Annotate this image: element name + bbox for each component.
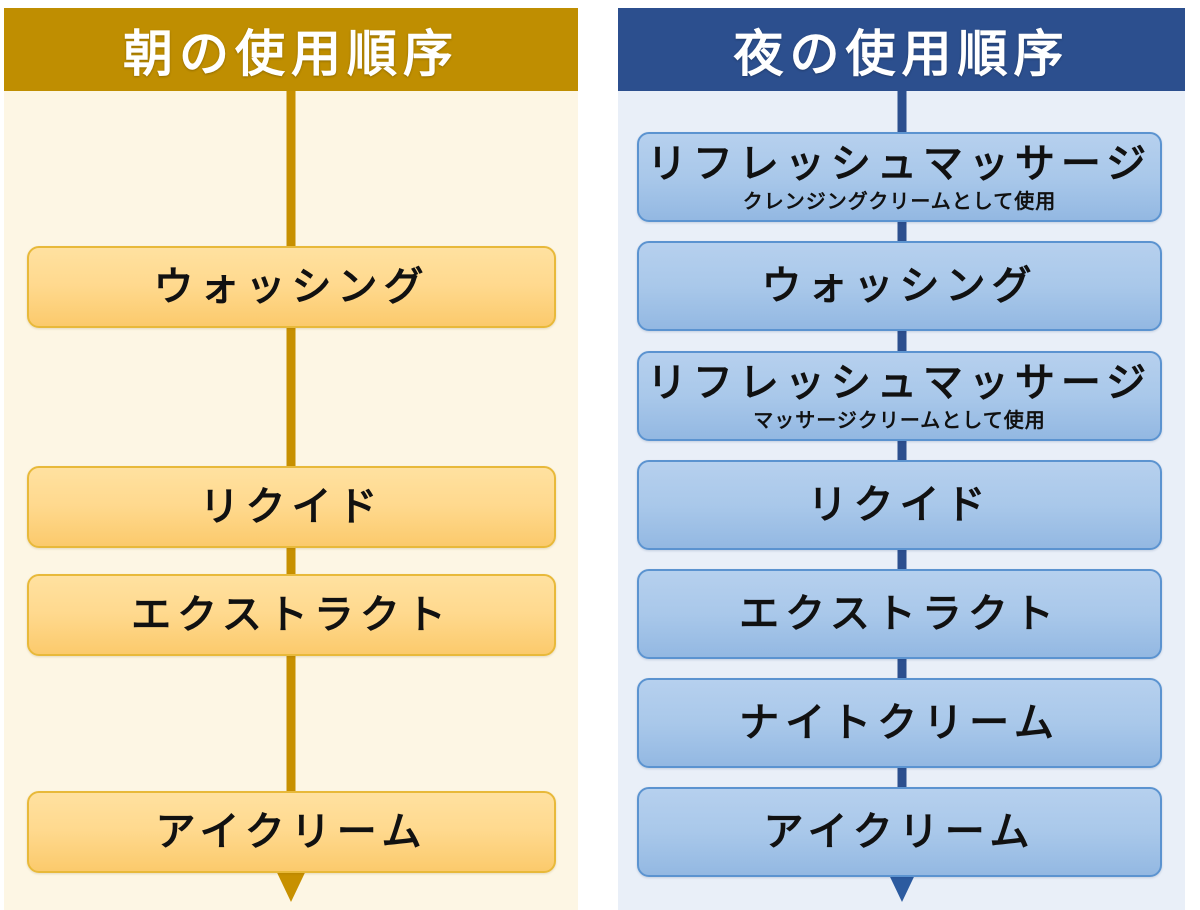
step-note: マッサージクリームとして使用 — [753, 409, 1045, 431]
morning-step-item[interactable]: リクイド — [27, 466, 556, 548]
step-label: エクストラクト — [739, 592, 1060, 636]
step-label: ウォッシング — [762, 264, 1038, 308]
step-label: リクイド — [808, 483, 992, 527]
night-step-item[interactable]: ウォッシング — [637, 241, 1162, 331]
night-step-item[interactable]: リクイド — [637, 460, 1162, 550]
night-step-item[interactable]: リフレッシュマッサージ クレンジングクリームとして使用 — [637, 132, 1162, 222]
morning-panel-header: 朝の使用順序 — [4, 8, 578, 91]
night-step-item[interactable]: アイクリーム — [637, 787, 1162, 877]
morning-routine-panel: 朝の使用順序 ウォッシング リクイド エクストラクト アイクリーム — [4, 8, 578, 910]
night-step-item[interactable]: リフレッシュマッサージ マッサージクリームとして使用 — [637, 351, 1162, 441]
night-panel-title: 夜の使用順序 — [734, 14, 1070, 86]
step-label: アイクリーム — [764, 810, 1036, 854]
morning-step-list: ウォッシング リクイド エクストラクト アイクリーム — [4, 91, 578, 910]
night-step-item[interactable]: ナイトクリーム — [637, 678, 1162, 768]
step-label: リフレッシュマッサージ — [647, 142, 1152, 186]
night-step-list: リフレッシュマッサージ クレンジングクリームとして使用 ウォッシング リフレッシ… — [618, 91, 1185, 910]
morning-panel-title: 朝の使用順序 — [123, 14, 459, 86]
step-label: エクストラクト — [131, 593, 452, 637]
step-label: ウォッシング — [154, 265, 430, 309]
step-note: クレンジングクリームとして使用 — [743, 190, 1056, 212]
night-panel-header: 夜の使用順序 — [618, 8, 1185, 91]
step-label: ナイトクリーム — [739, 701, 1060, 745]
skincare-routine-diagram: 朝の使用順序 ウォッシング リクイド エクストラクト アイクリーム — [0, 0, 1200, 910]
morning-step-item[interactable]: エクストラクト — [27, 574, 556, 656]
night-routine-panel: 夜の使用順序 リフレッシュマッサージ クレンジングクリームとして使用 ウォッシン… — [618, 8, 1185, 910]
morning-step-item[interactable]: ウォッシング — [27, 246, 556, 328]
morning-step-item[interactable]: アイクリーム — [27, 791, 556, 873]
step-label: アイクリーム — [156, 810, 428, 854]
step-label: リクイド — [200, 485, 384, 529]
night-step-item[interactable]: エクストラクト — [637, 569, 1162, 659]
step-label: リフレッシュマッサージ — [647, 361, 1152, 405]
